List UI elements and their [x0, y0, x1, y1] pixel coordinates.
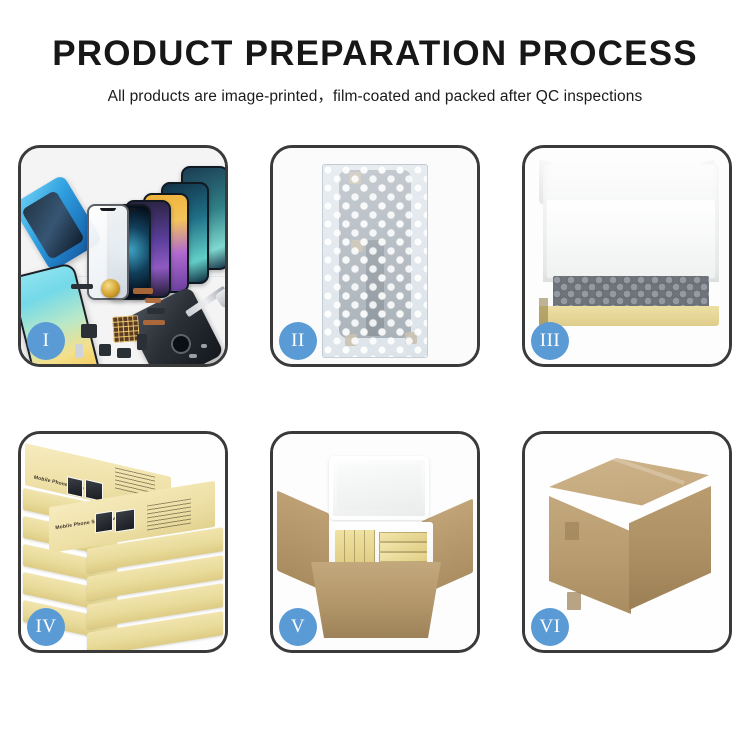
- spare-part-c: [99, 344, 111, 356]
- spare-part-b: [81, 324, 97, 338]
- inner-yellow-box-6: [379, 542, 427, 552]
- box-window-2b: [115, 508, 135, 532]
- page-title: PRODUCT PREPARATION PROCESS: [0, 36, 750, 73]
- spare-part-g: [75, 344, 83, 358]
- panel-numeral-badge-4: IV: [27, 608, 65, 646]
- box-window-1a: [67, 476, 83, 498]
- flex-cable-c: [143, 320, 165, 325]
- chip-grid-part: [112, 315, 140, 343]
- panel-numeral-badge-1: I: [27, 322, 65, 360]
- process-panel-5: V: [270, 431, 480, 653]
- yellow-box-front-edge: [539, 306, 719, 326]
- process-panel-4: Mobile Phone Spare Parts Mobile Phone Sp…: [18, 431, 228, 653]
- carton-tape-lower: [567, 592, 581, 610]
- inner-yellow-box-5: [379, 532, 427, 542]
- carton-body: [311, 562, 441, 638]
- page-header: PRODUCT PREPARATION PROCESS All products…: [0, 0, 750, 106]
- process-panel-grid: I II III: [18, 145, 732, 653]
- screw-a: [189, 354, 197, 358]
- process-panel-6: VI: [522, 431, 732, 653]
- panel-numeral-badge-6: VI: [531, 608, 569, 646]
- foam-box-lid-inner: [337, 464, 421, 510]
- bubble-texture: [323, 165, 427, 357]
- spare-part-a: [71, 284, 93, 289]
- spare-part-f: [147, 308, 165, 314]
- bubble-wrap-bag: [322, 164, 428, 358]
- flex-cable-a: [133, 288, 153, 294]
- flex-cable-b: [145, 298, 161, 303]
- process-panel-1: I: [18, 145, 228, 367]
- page-subtitle: All products are image-printed，film-coat…: [0, 84, 750, 106]
- panel-numeral-badge-3: III: [531, 322, 569, 360]
- grey-bubble-insert: [553, 276, 709, 310]
- process-panel-2: II: [270, 145, 480, 367]
- speaker-coil-part: [101, 279, 120, 298]
- panel-numeral-badge-2: II: [279, 322, 317, 360]
- inner-yellow-box-7: [379, 552, 427, 562]
- box-window-2a: [95, 511, 113, 534]
- panel-numeral-badge-5: V: [279, 608, 317, 646]
- spare-part-e: [137, 334, 147, 350]
- glass-notch-cutout: [100, 208, 116, 211]
- spare-part-d: [117, 348, 131, 358]
- white-foam-lining: [547, 200, 715, 278]
- process-panel-3: III: [522, 145, 732, 367]
- screw-b: [201, 344, 207, 348]
- carton-tape-upper: [565, 522, 579, 540]
